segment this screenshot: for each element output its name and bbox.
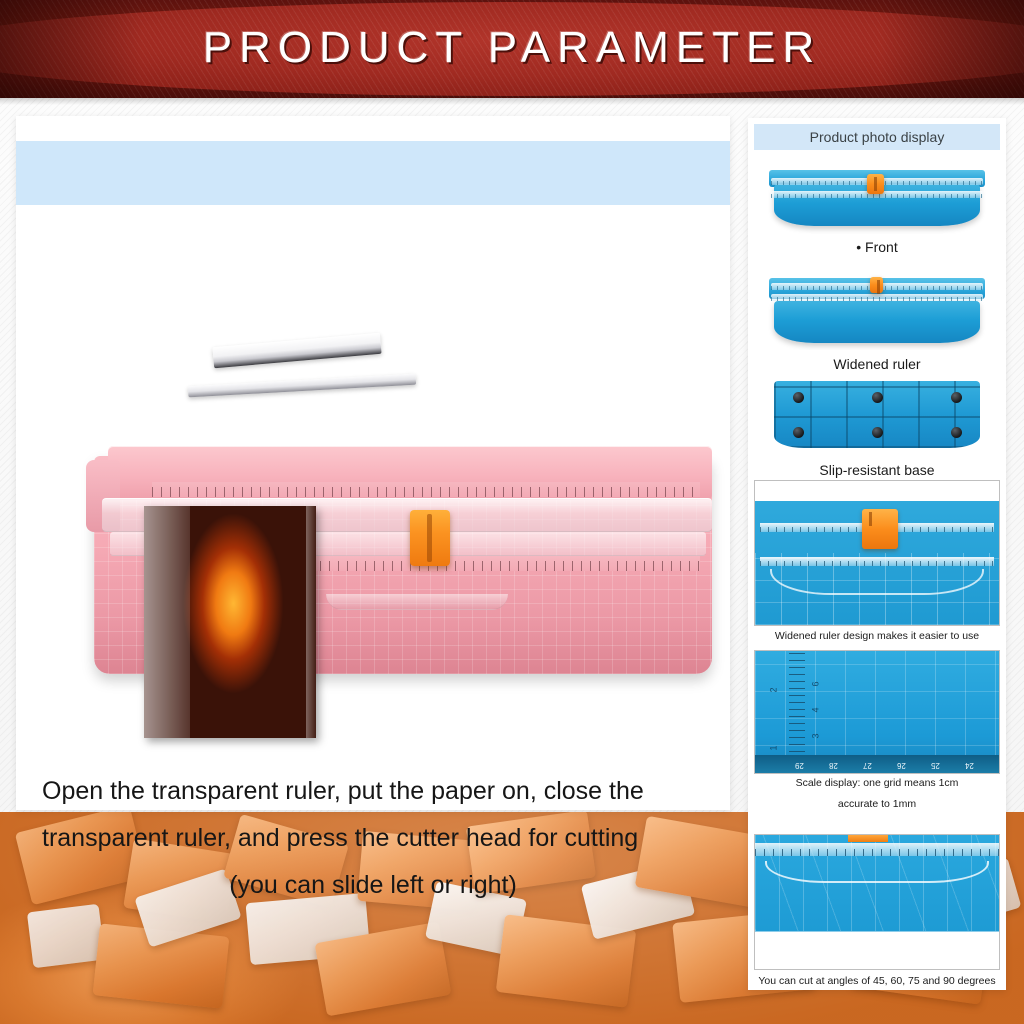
header-banner: PRODUCT PARAMETER [0, 0, 1024, 98]
ruler-number: 2 [769, 687, 779, 692]
sidebar-item-slip-resistant-base: Slip-resistant base [754, 374, 1000, 480]
caption-secondary: accurate to 1mm [754, 798, 1000, 811]
widened-ruler-closeup-image [754, 480, 1000, 626]
instruction-line-2: transparent ruler, and press the cutter … [42, 815, 704, 862]
pink-paper-trimmer-photo [94, 446, 712, 676]
sidebar-item-front: • Front [754, 158, 1000, 257]
ruler-number: 6 [811, 681, 821, 686]
sidebar-header: Product photo display [754, 124, 1000, 150]
ruler-number: 25 [931, 761, 940, 770]
product-photo-display-card: Product photo display • Front Widened ru… [748, 118, 1006, 990]
ruler-number: 28 [829, 761, 838, 770]
instruction-line-3: (you can slide left or right) [42, 862, 704, 909]
angle-cutting-image [754, 834, 1000, 970]
rubber-foot [951, 427, 962, 438]
ruler-scale-bar [760, 557, 994, 566]
instruction-text: Open the transparent ruler, put the pape… [42, 768, 704, 909]
printed-photo-being-cut [144, 506, 316, 738]
trimmer-ruler-scale [771, 294, 983, 301]
trimmer-handle-slot [326, 594, 508, 610]
scale-display-image: 1 2 3 4 6 29 28 27 26 25 24 [754, 650, 1000, 774]
instruction-line-1: Open the transparent ruler, put the pape… [42, 768, 704, 815]
sidebar-item-widened-ruler: Widened ruler [754, 268, 1000, 374]
ruler-scale-bar [755, 843, 999, 856]
caption: • Front [754, 239, 1000, 257]
orange-cutter-head [867, 174, 884, 194]
sidebar-item-widened-ruler-design: Widened ruler design makes it easier to … [754, 480, 1000, 643]
caption: Scale display: one grid means 1cm [754, 777, 1000, 790]
ruler-number: 4 [811, 707, 821, 712]
ruler-number: 24 [965, 761, 974, 770]
banner-drop-shadow [0, 98, 1024, 105]
transparent-guard-arc [765, 861, 989, 883]
ruler-number: 27 [863, 761, 872, 770]
photo-edge-highlight [306, 506, 316, 738]
blue-trimmer-widened-ruler-image [754, 268, 1000, 350]
transparent-guard-arc [770, 569, 985, 595]
spare-blade-strip [212, 333, 381, 369]
rubber-foot [872, 427, 883, 438]
sidebar-item-cutting-angles: You can cut at angles of 45, 60, 75 and … [754, 834, 1000, 988]
ruler-number: 26 [897, 761, 906, 770]
orange-cutter-head [410, 510, 450, 566]
ruler-number: 1 [769, 745, 779, 750]
blue-trimmer-base-image [754, 374, 1000, 458]
spare-blade-strip [188, 374, 416, 398]
blue-trimmer-front-image [754, 158, 1000, 234]
page-title: PRODUCT PARAMETER [0, 23, 1024, 73]
orange-cutter-head [848, 835, 888, 842]
photo-glass-reflection [144, 506, 190, 738]
trimmer-ruler-scale-top [152, 482, 700, 497]
use-of-products-card: Use of products Open the transparent rul… [16, 116, 730, 810]
ruler-number: 29 [795, 761, 804, 770]
caption: Widened ruler [754, 356, 1000, 374]
product-parameter-infographic: PRODUCT PARAMETER Use of products [0, 0, 1024, 1024]
orange-cutter-head [870, 277, 883, 293]
horizontal-ruler-band: 29 28 27 26 25 24 [755, 755, 999, 773]
trimmer-body [774, 301, 981, 344]
caption: You can cut at angles of 45, 60, 75 and … [754, 975, 1000, 988]
caption: Widened ruler design makes it easier to … [754, 630, 1000, 643]
trimmer-ruler-scale-mid [302, 556, 700, 571]
section-title-band [16, 141, 730, 205]
ruler-number: 3 [811, 733, 821, 738]
sidebar-item-scale-display: 1 2 3 4 6 29 28 27 26 25 24 Scale displa… [754, 650, 1000, 811]
orange-cutter-head [862, 509, 898, 549]
caption: Slip-resistant base [754, 462, 1000, 480]
